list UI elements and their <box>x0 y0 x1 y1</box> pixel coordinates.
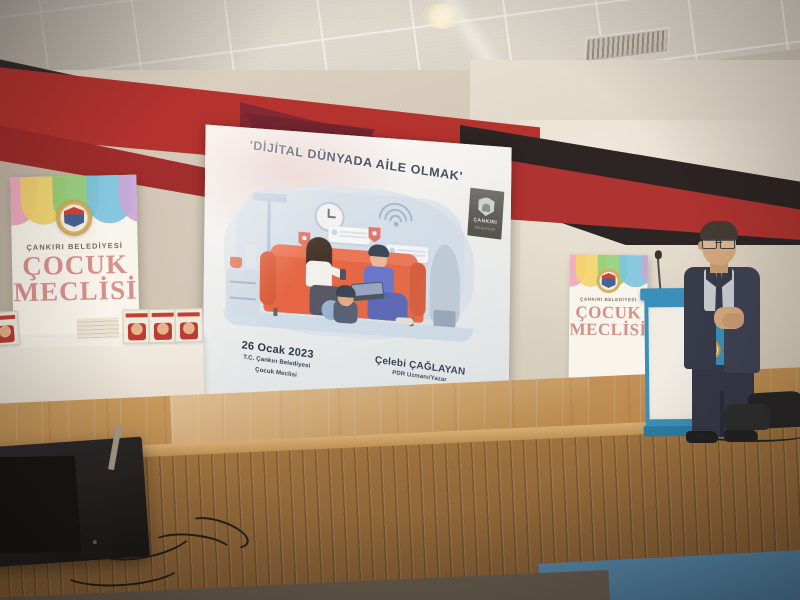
downlight-icon-1 <box>421 3 463 29</box>
banner-left-title-line2: MECLİSİ <box>12 277 139 306</box>
screen-sheen <box>202 125 511 420</box>
speaker-hair <box>700 221 738 241</box>
photo-scene: 'DİJİTAL DÜNYADA AİLE OLMAK' ÇANKIRI BEL… <box>0 0 800 600</box>
banner-right-title-line2: MECLİSİ <box>569 321 647 339</box>
projection-screen: 'DİJİTAL DÜNYADA AİLE OLMAK' ÇANKIRI BEL… <box>202 125 511 420</box>
book-stack <box>77 317 120 338</box>
microphone-icon <box>655 250 662 259</box>
book-item <box>149 309 178 343</box>
banner-right-title: ÇOCUK MECLİSİ <box>569 304 647 339</box>
banner-right-subtitle: ÇANKIRI BELEDİYESİ <box>569 297 647 303</box>
eyeglasses-icon <box>702 239 735 247</box>
speaker-hand-over <box>722 313 744 328</box>
banner-right-emblem-icon <box>596 269 620 293</box>
banner-left-title: ÇOCUK MECLİSİ <box>12 251 139 307</box>
book-item <box>175 308 204 342</box>
book-item <box>0 311 20 347</box>
roll-up-banner-left: ÇANKIRI BELEDİYESİ ÇOCUK MECLİSİ <box>10 175 140 350</box>
book-item <box>123 309 152 343</box>
monitor-screen <box>0 456 81 553</box>
